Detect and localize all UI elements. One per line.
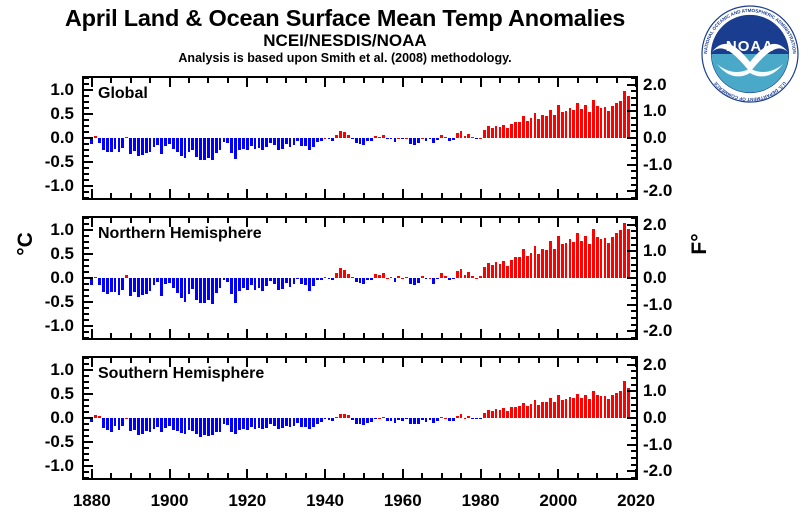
bar-global-1940 (324, 138, 327, 139)
bar-global-1956 (386, 138, 389, 139)
y-tick-right (631, 437, 636, 439)
bar-global-1964 (417, 138, 420, 143)
bar-global-1961 (405, 138, 408, 139)
bar-northern-hemisphere-1996 (541, 249, 544, 278)
bar-southern-hemisphere-1949 (359, 418, 362, 424)
y-tick-label-c: -0.5 (16, 293, 74, 310)
x-tick-top (305, 78, 307, 83)
bar-northern-hemisphere-1896 (153, 278, 156, 285)
panel-title-northern-hemisphere: Northern Hemisphere (98, 225, 262, 243)
bar-southern-hemisphere-1898 (160, 418, 163, 432)
bar-global-1898 (160, 138, 163, 154)
y-tick-label-f: -2.0 (643, 462, 701, 479)
y-tick-label-f: 2.0 (643, 356, 701, 373)
bar-northern-hemisphere-1941 (328, 278, 331, 279)
x-tick-bottom (188, 473, 190, 478)
bar-global-1941 (328, 138, 331, 139)
y-tick-left (84, 459, 89, 461)
x-tick-bottom (460, 473, 462, 478)
bar-southern-hemisphere-1904 (184, 418, 187, 434)
bar-southern-hemisphere-2009 (592, 391, 595, 418)
y-tick-left (84, 283, 89, 285)
bar-northern-hemisphere-1900 (168, 278, 171, 283)
x-tick-top (616, 358, 618, 363)
y-tick-label-f: 0.0 (643, 409, 701, 426)
bar-northern-hemisphere-1952 (370, 278, 373, 280)
bar-northern-hemisphere-1979 (475, 278, 478, 279)
x-tick-top (635, 78, 636, 87)
bar-southern-hemisphere-1980 (479, 418, 482, 419)
x-tick-top (421, 358, 423, 363)
y-tick-left (84, 399, 89, 401)
bar-southern-hemisphere-1988 (510, 407, 513, 418)
x-tick-top (499, 218, 501, 223)
bar-northern-hemisphere-1940 (324, 277, 327, 278)
x-tick-top (188, 218, 190, 223)
bar-southern-hemisphere-1899 (164, 418, 167, 428)
y-tick-right (631, 317, 636, 319)
y-tick-left (84, 307, 89, 309)
x-tick-bottom (635, 469, 636, 478)
y-tick-label-c: 0.5 (16, 245, 74, 262)
bar-global-1896 (153, 138, 156, 147)
bar-global-1926 (269, 138, 272, 143)
x-tick-top (596, 78, 598, 83)
page-subtitle: NCEI/NESDIS/NOAA (0, 31, 690, 50)
y-tick-left (84, 471, 89, 473)
bar-southern-hemisphere-1958 (394, 418, 397, 423)
x-tick-bottom (557, 469, 559, 478)
x-tick-top (110, 358, 112, 363)
bar-northern-hemisphere-2016 (619, 230, 622, 278)
x-tick-label: 1980 (451, 492, 511, 510)
bar-global-1987 (506, 128, 509, 138)
x-tick-bottom (188, 193, 190, 198)
bar-southern-hemisphere-1972 (448, 418, 451, 421)
bar-northern-hemisphere-1939 (320, 278, 323, 280)
x-tick-top (635, 218, 636, 227)
bar-global-1972 (448, 138, 451, 141)
x-tick-top (188, 78, 190, 83)
bar-northern-hemisphere-1953 (374, 274, 377, 278)
bar-southern-hemisphere-1941 (328, 418, 331, 420)
bar-global-1894 (145, 138, 148, 153)
bar-northern-hemisphere-1889 (125, 275, 128, 278)
x-tick-bottom (596, 193, 598, 198)
bar-northern-hemisphere-1913 (219, 278, 222, 288)
bar-global-1911 (211, 138, 214, 160)
y-tick-left (84, 83, 89, 85)
bar-southern-hemisphere-2002 (565, 399, 568, 418)
bar-northern-hemisphere-1937 (312, 278, 315, 286)
x-tick-bottom (149, 193, 151, 198)
bar-global-2010 (596, 106, 599, 138)
bar-global-1914 (223, 138, 226, 142)
bar-northern-hemisphere-1894 (145, 278, 148, 294)
y-tick-left (84, 89, 93, 91)
y-tick-right (631, 404, 636, 406)
bar-southern-hemisphere-1950 (362, 418, 365, 425)
bar-northern-hemisphere-1902 (176, 278, 179, 293)
bar-global-2008 (588, 112, 591, 138)
bar-northern-hemisphere-1929 (281, 278, 284, 289)
x-tick-bottom (266, 193, 268, 198)
bar-global-2016 (619, 101, 622, 138)
bar-southern-hemisphere-1903 (180, 418, 183, 433)
bar-southern-hemisphere-1943 (335, 417, 338, 418)
y-tick-left (84, 131, 89, 133)
bar-global-1947 (351, 138, 354, 139)
y-tick-right (627, 110, 636, 112)
x-tick-bottom (577, 193, 579, 198)
bar-southern-hemisphere-1957 (390, 418, 393, 421)
bar-global-1895 (149, 138, 152, 152)
x-tick-bottom (421, 333, 423, 338)
bar-global-1918 (238, 138, 241, 150)
bar-global-1986 (502, 125, 505, 138)
x-tick-top (130, 218, 132, 223)
x-tick-bottom (538, 193, 540, 198)
bar-northern-hemisphere-1907 (195, 278, 198, 300)
x-tick-top (577, 218, 579, 223)
bar-southern-hemisphere-2005 (576, 394, 579, 418)
y-tick-right (631, 124, 636, 126)
bar-northern-hemisphere-1886 (114, 278, 117, 292)
x-tick-top (266, 218, 268, 223)
bar-global-1949 (359, 138, 362, 144)
bar-global-2002 (565, 111, 568, 138)
bar-global-1889 (125, 137, 128, 138)
bar-global-1953 (374, 136, 377, 138)
bar-southern-hemisphere-1947 (351, 418, 354, 420)
x-tick-top (285, 78, 287, 83)
y-tick-left (84, 423, 89, 425)
bar-global-1886 (114, 138, 117, 149)
bar-global-1974 (456, 133, 459, 138)
x-tick-top (402, 218, 404, 227)
x-tick-bottom (285, 193, 287, 198)
y-tick-right (631, 264, 636, 266)
x-tick-top (616, 78, 618, 83)
bar-southern-hemisphere-1976 (464, 418, 467, 419)
y-tick-label-f: -1.0 (643, 436, 701, 453)
y-tick-left (84, 241, 89, 243)
y-tick-left (84, 313, 89, 315)
bar-southern-hemisphere-1998 (549, 398, 552, 418)
bar-global-1892 (137, 138, 140, 156)
bar-global-1887 (118, 138, 121, 152)
x-tick-top (382, 218, 384, 223)
bar-global-1883 (102, 138, 105, 150)
bar-northern-hemisphere-1897 (156, 278, 159, 282)
y-tick-label-f: 1.0 (643, 242, 701, 259)
bar-northern-hemisphere-1911 (211, 278, 214, 304)
bar-southern-hemisphere-1939 (320, 418, 323, 422)
x-tick-top (499, 358, 501, 363)
bar-northern-hemisphere-1920 (246, 278, 249, 290)
x-tick-top (518, 78, 520, 83)
bar-global-1922 (254, 138, 257, 149)
bar-northern-hemisphere-1977 (467, 272, 470, 278)
bar-southern-hemisphere-1915 (226, 418, 229, 425)
bar-southern-hemisphere-1937 (312, 418, 315, 427)
bar-southern-hemisphere-2015 (615, 393, 618, 418)
bar-global-1908 (199, 138, 202, 160)
y-tick-left (84, 191, 89, 193)
bar-global-1920 (246, 138, 249, 150)
bar-northern-hemisphere-1925 (265, 278, 268, 286)
bar-northern-hemisphere-1954 (378, 275, 381, 278)
x-tick-top (169, 78, 171, 87)
bar-southern-hemisphere-1985 (499, 410, 502, 418)
bar-global-1973 (452, 138, 455, 140)
x-tick-top (460, 358, 462, 363)
y-tick-right (631, 410, 636, 412)
bar-global-1890 (129, 138, 132, 154)
bar-global-1885 (110, 138, 113, 152)
bar-global-1978 (471, 137, 474, 138)
x-tick-bottom (402, 329, 404, 338)
x-tick-top (635, 358, 636, 367)
bar-northern-hemisphere-1946 (347, 274, 350, 278)
bar-southern-hemisphere-1968 (432, 418, 435, 423)
bar-northern-hemisphere-1970 (440, 273, 443, 278)
bar-southern-hemisphere-1927 (273, 418, 276, 426)
bar-southern-hemisphere-2011 (600, 396, 603, 418)
bar-global-2000 (557, 105, 560, 138)
bar-northern-hemisphere-1991 (522, 249, 525, 278)
bar-global-2012 (604, 107, 607, 138)
y-tick-right (627, 250, 636, 252)
y-tick-left (84, 143, 89, 145)
bar-southern-hemisphere-1934 (300, 418, 303, 427)
bar-northern-hemisphere-1950 (362, 278, 365, 284)
bar-southern-hemisphere-2006 (580, 398, 583, 418)
bar-global-1942 (331, 138, 334, 141)
y-tick-left (84, 453, 89, 455)
bar-southern-hemisphere-1979 (475, 418, 478, 419)
x-tick-bottom (169, 329, 171, 338)
x-tick-top (402, 78, 404, 87)
x-tick-bottom (285, 473, 287, 478)
y-tick-label-c: -1.0 (16, 457, 74, 474)
bar-global-1881 (94, 136, 97, 138)
x-tick-top (596, 358, 598, 363)
y-tick-left (84, 155, 89, 157)
bar-global-1906 (191, 138, 194, 150)
bar-global-1966 (425, 138, 428, 141)
x-tick-bottom (577, 333, 579, 338)
x-tick-top (149, 358, 151, 363)
bar-northern-hemisphere-1959 (397, 276, 400, 278)
bar-southern-hemisphere-2010 (596, 395, 599, 418)
bar-southern-hemisphere-1945 (343, 414, 346, 418)
y-tick-right (627, 304, 636, 306)
x-tick-top (246, 78, 248, 87)
bar-northern-hemisphere-1992 (526, 256, 529, 278)
bar-northern-hemisphere-1901 (172, 278, 175, 288)
bar-southern-hemisphere-1982 (487, 410, 490, 418)
x-tick-label: 1900 (140, 492, 200, 510)
bar-northern-hemisphere-2009 (592, 229, 595, 278)
bar-northern-hemisphere-1931 (289, 278, 292, 287)
bar-southern-hemisphere-1916 (230, 418, 233, 432)
x-tick-top (480, 78, 482, 87)
bar-global-1998 (549, 110, 552, 138)
x-tick-bottom (382, 473, 384, 478)
bar-global-1955 (382, 135, 385, 138)
bar-southern-hemisphere-1983 (491, 411, 494, 418)
bar-southern-hemisphere-1929 (281, 418, 284, 428)
y-tick-right (631, 290, 636, 292)
y-tick-label-f: 2.0 (643, 216, 701, 233)
x-tick-bottom (110, 333, 112, 338)
x-tick-top (518, 358, 520, 363)
bar-southern-hemisphere-1948 (355, 418, 358, 424)
y-tick-left (84, 185, 93, 187)
bar-global-1884 (106, 138, 109, 152)
bar-northern-hemisphere-1903 (180, 278, 183, 298)
bar-northern-hemisphere-1890 (129, 278, 132, 296)
bar-southern-hemisphere-1917 (234, 418, 237, 434)
y-tick-left (84, 235, 89, 237)
x-tick-bottom (577, 473, 579, 478)
y-tick-right (631, 144, 636, 146)
bar-global-1910 (207, 138, 210, 158)
bar-global-1927 (273, 138, 276, 145)
y-tick-right (631, 104, 636, 106)
x-tick-bottom (382, 333, 384, 338)
x-tick-bottom (382, 193, 384, 198)
bar-northern-hemisphere-1957 (390, 277, 393, 278)
y-tick-left (84, 218, 89, 219)
x-tick-top (441, 218, 443, 223)
y-tick-right (627, 417, 636, 419)
x-tick-top (285, 218, 287, 223)
bar-global-2013 (607, 111, 610, 138)
bar-northern-hemisphere-1887 (118, 278, 121, 295)
page-methodology-note: Analysis is based upon Smith et al. (200… (0, 50, 690, 66)
x-tick-top (538, 358, 540, 363)
bar-southern-hemisphere-1921 (250, 418, 253, 427)
bar-global-2014 (611, 106, 614, 138)
bar-northern-hemisphere-1995 (537, 254, 540, 278)
y-tick-label-c: 0.0 (16, 269, 74, 286)
bar-southern-hemisphere-1966 (425, 418, 428, 422)
y-tick-label-f: 2.0 (643, 76, 701, 93)
bar-global-1954 (378, 137, 381, 138)
bar-northern-hemisphere-1994 (534, 246, 537, 278)
bar-global-1975 (460, 131, 463, 138)
y-tick-right (631, 324, 636, 326)
y-tick-left (84, 417, 93, 419)
x-tick-bottom (246, 469, 248, 478)
bar-northern-hemisphere-1976 (464, 275, 467, 278)
y-tick-left (84, 441, 93, 443)
bar-northern-hemisphere-2013 (607, 243, 610, 278)
bar-southern-hemisphere-1928 (277, 418, 280, 429)
x-tick-bottom (169, 469, 171, 478)
bar-northern-hemisphere-2006 (580, 241, 583, 278)
x-tick-bottom (421, 473, 423, 478)
x-tick-top (110, 78, 112, 83)
bar-southern-hemisphere-1944 (339, 414, 342, 418)
bar-northern-hemisphere-2001 (561, 244, 564, 278)
x-tick-bottom (343, 193, 345, 198)
x-tick-top (402, 358, 404, 367)
bar-northern-hemisphere-1974 (456, 271, 459, 278)
y-tick-left (84, 369, 93, 371)
bar-global-1982 (487, 126, 490, 138)
bar-global-1960 (401, 138, 404, 139)
bar-northern-hemisphere-1908 (199, 278, 202, 303)
x-tick-bottom (246, 329, 248, 338)
bar-global-1994 (534, 113, 537, 138)
bar-southern-hemisphere-1994 (534, 400, 537, 418)
bar-global-1888 (121, 138, 124, 148)
bar-southern-hemisphere-1884 (106, 418, 109, 430)
x-tick-label: 1940 (295, 492, 355, 510)
y-tick-label-c: -0.5 (16, 153, 74, 170)
bar-global-1946 (347, 135, 350, 138)
x-tick-top (207, 78, 209, 83)
x-tick-bottom (227, 193, 229, 198)
y-tick-right (631, 130, 636, 132)
x-tick-top (91, 358, 93, 367)
bar-global-1937 (312, 138, 315, 147)
bar-southern-hemisphere-2018 (627, 388, 630, 418)
bar-global-1904 (184, 138, 187, 158)
bar-northern-hemisphere-1891 (133, 278, 136, 292)
chart-panel-northern-hemisphere: Northern Hemisphere (82, 216, 638, 340)
bar-southern-hemisphere-1981 (483, 413, 486, 418)
y-tick-left (84, 319, 89, 321)
plot-area-global (84, 78, 636, 198)
bar-northern-hemisphere-1904 (184, 278, 187, 302)
x-tick-bottom (130, 473, 132, 478)
bar-northern-hemisphere-1921 (250, 278, 253, 285)
bar-southern-hemisphere-1919 (242, 418, 245, 429)
y-tick-right (631, 430, 636, 432)
x-tick-top (557, 78, 559, 87)
bar-global-1997 (545, 116, 548, 138)
bar-southern-hemisphere-1987 (506, 411, 509, 418)
x-tick-top (382, 358, 384, 363)
bar-southern-hemisphere-1918 (238, 418, 241, 430)
x-tick-top (460, 218, 462, 223)
y-tick-right (631, 424, 636, 426)
bar-southern-hemisphere-1962 (409, 418, 412, 424)
bar-northern-hemisphere-1951 (366, 278, 369, 280)
bar-northern-hemisphere-1919 (242, 278, 245, 288)
bar-global-1992 (526, 121, 529, 138)
x-tick-bottom (285, 333, 287, 338)
bar-southern-hemisphere-1986 (502, 408, 505, 418)
y-tick-left (84, 375, 89, 377)
bar-global-1990 (518, 122, 521, 138)
x-tick-bottom (149, 473, 151, 478)
bar-global-1900 (168, 138, 171, 144)
bar-northern-hemisphere-2007 (584, 236, 587, 278)
bar-northern-hemisphere-1973 (452, 278, 455, 279)
bar-global-1919 (242, 138, 245, 149)
bar-global-1899 (164, 138, 167, 146)
bar-global-2005 (576, 103, 579, 138)
bar-northern-hemisphere-1917 (234, 278, 237, 303)
bar-southern-hemisphere-1999 (553, 402, 556, 418)
bar-global-1995 (537, 119, 540, 138)
y-tick-left (84, 405, 89, 407)
